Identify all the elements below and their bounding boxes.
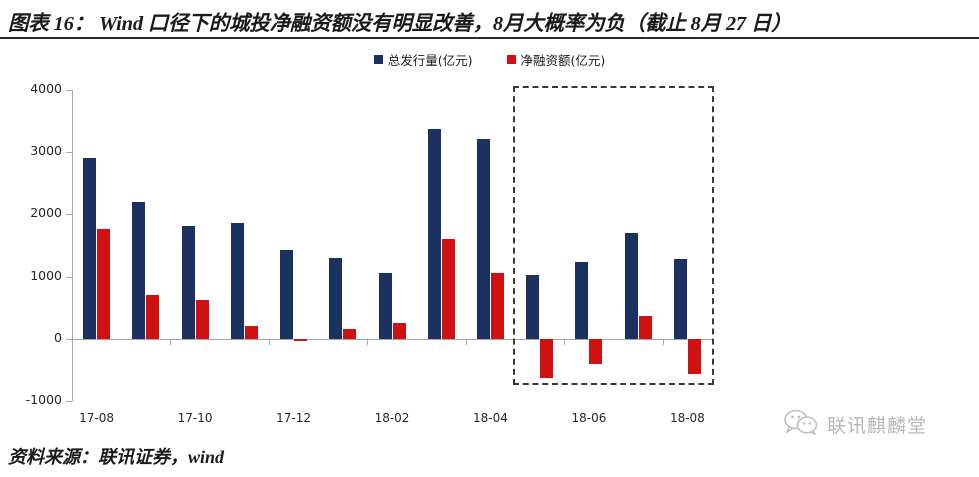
y-axis-tick [66, 214, 72, 215]
x-axis-tick-label: 18-02 [352, 411, 432, 425]
x-axis-tick-label: 18-08 [647, 411, 727, 425]
bar-net-financing[interactable] [688, 339, 701, 374]
x-axis-tick [367, 339, 368, 345]
y-axis-tick [66, 277, 72, 278]
bar-total-issuance[interactable] [477, 139, 490, 339]
bar-net-financing[interactable] [442, 239, 455, 339]
y-axis-tick-label: 2000 [0, 205, 62, 220]
bar-net-financing[interactable] [589, 339, 602, 364]
y-axis-tick-label: 0 [0, 330, 62, 345]
y-axis-tick-label: 3000 [0, 143, 62, 158]
bar-total-issuance[interactable] [379, 273, 392, 339]
x-axis-tick-label: 17-08 [57, 411, 137, 425]
y-axis-tick-label: -1000 [0, 392, 62, 407]
bar-net-financing[interactable] [97, 229, 110, 338]
bar-net-financing[interactable] [639, 316, 652, 339]
bar-net-financing[interactable] [294, 339, 307, 341]
bar-total-issuance[interactable] [575, 262, 588, 339]
watermark-label: 联讯麒麟堂 [827, 411, 927, 438]
bar-net-financing[interactable] [491, 273, 504, 338]
y-axis-tick [66, 90, 72, 91]
x-axis-tick-label: 17-10 [155, 411, 235, 425]
figure-container: 图表 16： Wind 口径下的城投净融资额没有明显改善，8月大概率为负（截止 … [0, 0, 979, 477]
bar-net-financing[interactable] [146, 295, 159, 339]
bar-total-issuance[interactable] [280, 250, 293, 339]
bar-total-issuance[interactable] [329, 258, 342, 339]
bar-net-financing[interactable] [196, 300, 209, 339]
x-axis-tick-label: 18-04 [450, 411, 530, 425]
x-axis-tick [269, 339, 270, 345]
bar-total-issuance[interactable] [674, 259, 687, 339]
bar-net-financing[interactable] [393, 323, 406, 339]
y-axis-tick-label: 4000 [0, 81, 62, 96]
wechat-icon [784, 409, 818, 440]
y-axis-tick-label: 1000 [0, 268, 62, 283]
source-note: 资料来源：联讯证券，wind [8, 443, 224, 469]
x-axis-tick [170, 339, 171, 345]
bar-total-issuance[interactable] [526, 275, 539, 339]
bar-net-financing[interactable] [540, 339, 553, 378]
bar-total-issuance[interactable] [132, 202, 145, 339]
x-axis-tick-label: 18-06 [549, 411, 629, 425]
bar-total-issuance[interactable] [182, 226, 195, 339]
bar-net-financing[interactable] [245, 326, 258, 339]
bar-total-issuance[interactable] [83, 158, 96, 338]
bar-total-issuance[interactable] [231, 223, 244, 339]
bar-total-issuance[interactable] [428, 129, 441, 339]
y-axis-tick [66, 152, 72, 153]
bar-net-financing[interactable] [343, 329, 356, 339]
y-axis-line [72, 90, 73, 401]
bar-total-issuance[interactable] [625, 233, 638, 339]
y-axis-tick [66, 401, 72, 402]
watermark: 联讯麒麟堂 [784, 409, 927, 440]
x-axis-tick-label: 17-12 [254, 411, 334, 425]
chart-plot-area: 40003000200010000-100017-0817-1017-1218-… [0, 0, 979, 477]
x-axis-tick [466, 339, 467, 345]
x-axis-tick [72, 339, 73, 345]
